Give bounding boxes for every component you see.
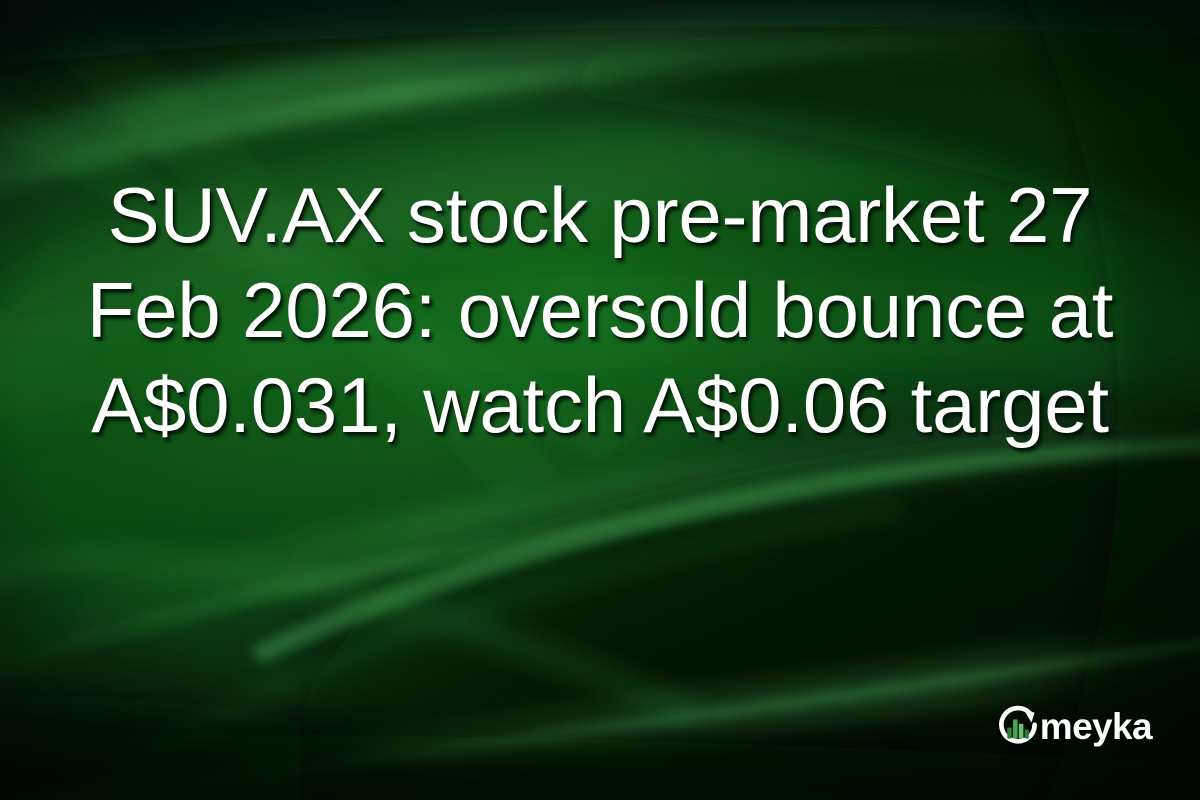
headline-block: SUV.AX stock pre-market 27 Feb 2026: ove…: [0, 168, 1200, 453]
meyka-circular-chart-icon: [994, 702, 1042, 750]
headline-line-2: Feb 2026: oversold bounce at: [40, 263, 1160, 358]
headline-line-1: SUV.AX stock pre-market 27: [40, 168, 1160, 263]
meyka-logo[interactable]: meyka: [994, 702, 1152, 750]
meyka-wordmark: meyka: [1040, 708, 1152, 745]
headline-line-3: A$0.031, watch A$0.06 target: [40, 358, 1160, 453]
banner-card: SUV.AX stock pre-market 27 Feb 2026: ove…: [0, 0, 1200, 800]
